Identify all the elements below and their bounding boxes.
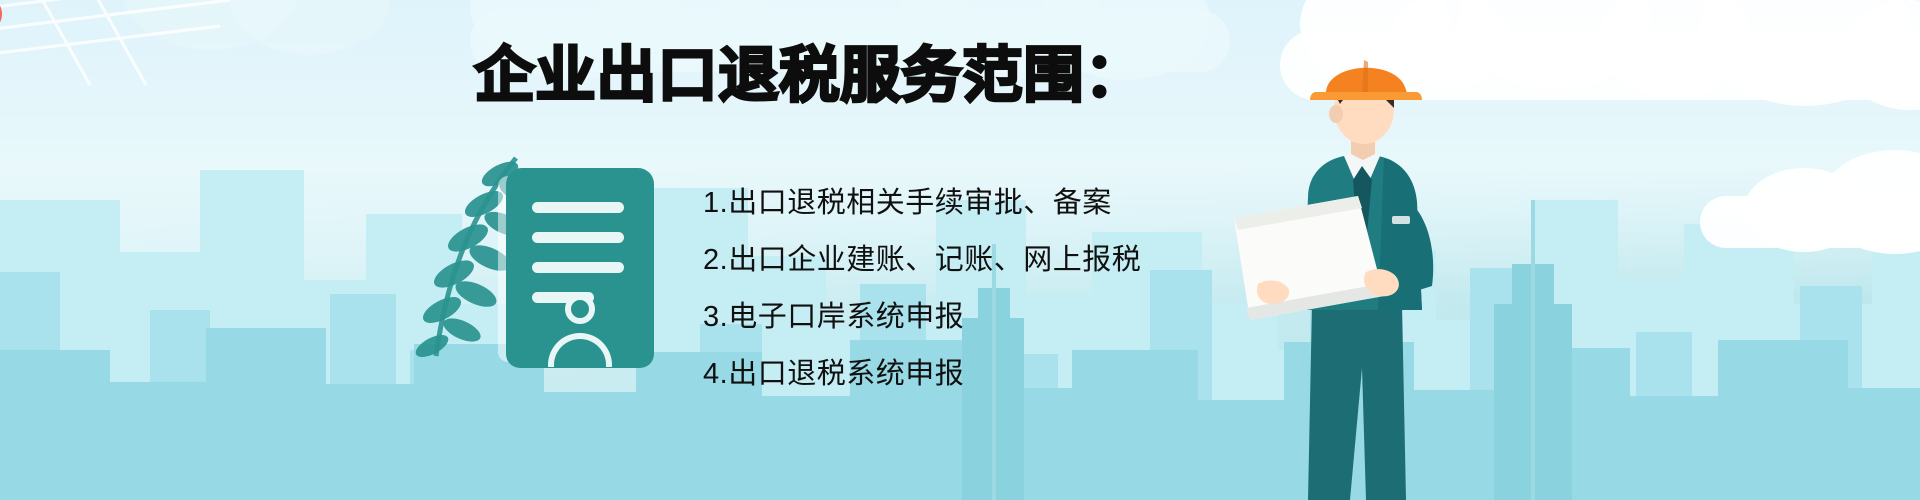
list-item-number: 3.: [703, 301, 728, 333]
list-item-label: 电子口岸系统申报: [728, 299, 964, 333]
list-item-number: 1.: [703, 187, 728, 219]
list-item-number: 2.: [703, 244, 728, 276]
list-item: 3.电子口岸系统申报: [703, 288, 1223, 345]
list-item-label: 出口退税相关手续审批、备案: [728, 185, 1112, 219]
list-item: 4.出口退税系统申报: [703, 345, 1223, 402]
list-item: 2.出口企业建账、记账、网上报税: [703, 231, 1223, 288]
list-item-label: 出口企业建账、记账、网上报税: [728, 242, 1141, 276]
certificate-document-icon: [506, 168, 654, 368]
list-item-number: 4.: [703, 358, 728, 390]
list-item: 1.出口退税相关手续审批、备案: [703, 174, 1223, 231]
service-scope-list: 1.出口退税相关手续审批、备案 2.出口企业建账、记账、网上报税 3.电子口岸系…: [703, 174, 1223, 402]
construction-worker-illustration: [1216, 48, 1476, 500]
list-item-label: 出口退税系统申报: [728, 356, 964, 390]
page-title: 企业出口退税服务范围：: [450, 38, 1170, 114]
export-tax-refund-banner: 企业出口退税服务范围： 1.出口退税相关手续审批、备案 2.出口企业建账、记账、…: [0, 0, 1920, 500]
